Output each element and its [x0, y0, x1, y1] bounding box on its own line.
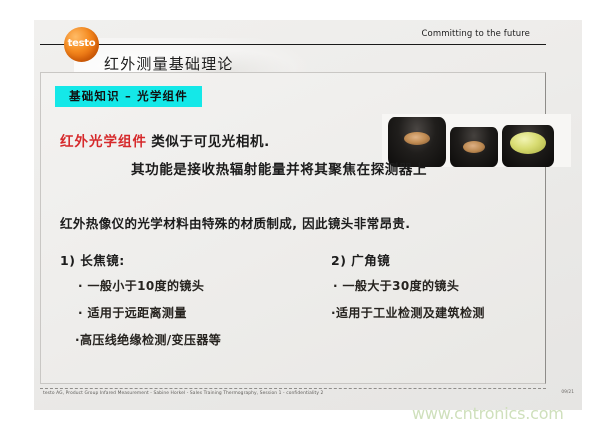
presentation-slide: Committing to the future testo 红外测量基础理论 …	[34, 20, 582, 410]
list-item: ·高压线绝缘检测/变压器等	[75, 331, 221, 348]
column-2-heading: 2) 广角镜	[331, 250, 390, 269]
slide-title: 红外测量基础理论	[104, 53, 234, 74]
testo-logo: testo	[64, 27, 99, 62]
footer-divider	[40, 388, 546, 389]
intro-rest: 类似于可见光相机.	[151, 134, 270, 150]
list-item: · 适用于远距离测量	[78, 304, 187, 321]
list-item: · 一般小于10度的镜头	[78, 277, 204, 294]
lens-standard-image	[450, 127, 498, 167]
company-tagline: Committing to the future	[422, 29, 531, 39]
section-badge: 基础知识 – 光学组件	[55, 86, 202, 107]
site-watermark: www.cntronics.com	[412, 404, 564, 423]
page-number: 09/21	[561, 390, 574, 395]
lens-wideangle-image	[502, 125, 554, 167]
slide-body-panel: 基础知识 – 光学组件 红外光学组件 类似于可见光相机. 其功能是接收热辐射能量…	[40, 72, 546, 384]
intro-highlight: 红外光学组件	[60, 134, 147, 150]
header-divider	[40, 44, 546, 45]
intro-line: 红外光学组件 类似于可见光相机.	[60, 130, 270, 150]
testo-logo-label: testo	[64, 38, 99, 49]
column-1-heading: 1) 长焦镜:	[60, 250, 125, 269]
list-item: ·适用于工业检测及建筑检测	[331, 304, 485, 321]
footer-credit: testo AG, Product Group Infared Measurem…	[43, 391, 323, 396]
material-paragraph: 红外热像仪的光学材料由特殊的材质制成, 因此镜头非常昂贵.	[60, 213, 410, 232]
function-line: 其功能是接收热辐射能量并将其聚焦在探测器上	[131, 158, 427, 178]
list-item: · 一般大于30度的镜头	[333, 277, 459, 294]
